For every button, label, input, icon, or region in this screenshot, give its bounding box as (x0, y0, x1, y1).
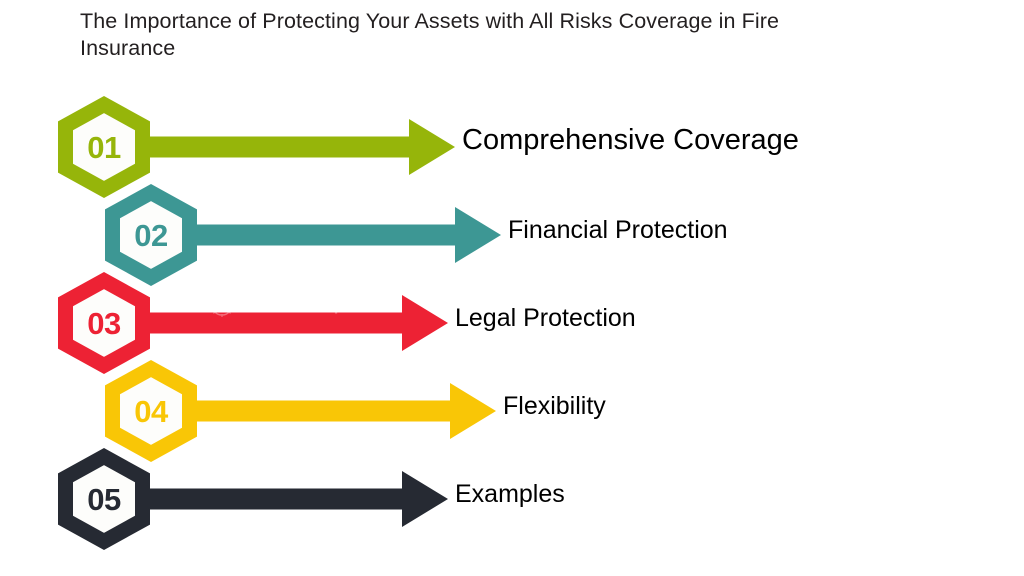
step-arrow (185, 383, 496, 439)
step-label: Legal Protection (455, 304, 636, 333)
step-label: Financial Protection (508, 216, 728, 245)
step-number: 05 (87, 482, 121, 517)
step-row[interactable]: 05Examples (0, 440, 1024, 576)
infographic-canvas: The Importance of Protecting Your Assets… (0, 0, 1024, 576)
step-arrow (138, 119, 455, 175)
step-number: 01 (87, 130, 121, 165)
step-label: Comprehensive Coverage (462, 124, 799, 157)
step-label: Examples (455, 480, 565, 509)
step-arrow (138, 295, 448, 351)
step-number: 04 (134, 394, 169, 429)
step-number: 03 (87, 306, 121, 341)
step-arrow (185, 207, 501, 263)
step-number: 02 (134, 218, 167, 253)
step-label: Flexibility (503, 392, 606, 421)
page-title: The Importance of Protecting Your Assets… (80, 8, 850, 62)
step-arrow (138, 471, 448, 527)
